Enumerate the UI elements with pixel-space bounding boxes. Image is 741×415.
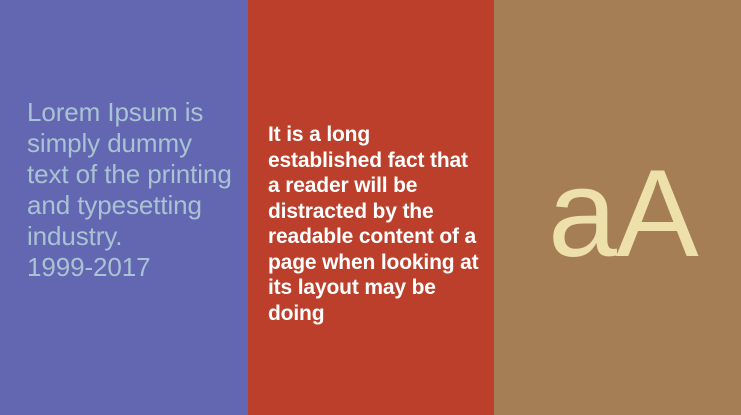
- font-sample-glyphs: aA: [548, 152, 698, 276]
- purple-panel-body-text: Lorem Ipsum is simply dummy text of the …: [27, 97, 237, 283]
- panel-purple: Lorem Ipsum is simply dummy text of the …: [0, 0, 248, 415]
- panel-red: It is a long established fact that a rea…: [248, 0, 494, 415]
- red-panel-body-text: It is a long established fact that a rea…: [268, 122, 480, 326]
- slide-canvas: Lorem Ipsum is simply dummy text of the …: [0, 0, 741, 415]
- panel-tan: aA: [494, 0, 741, 415]
